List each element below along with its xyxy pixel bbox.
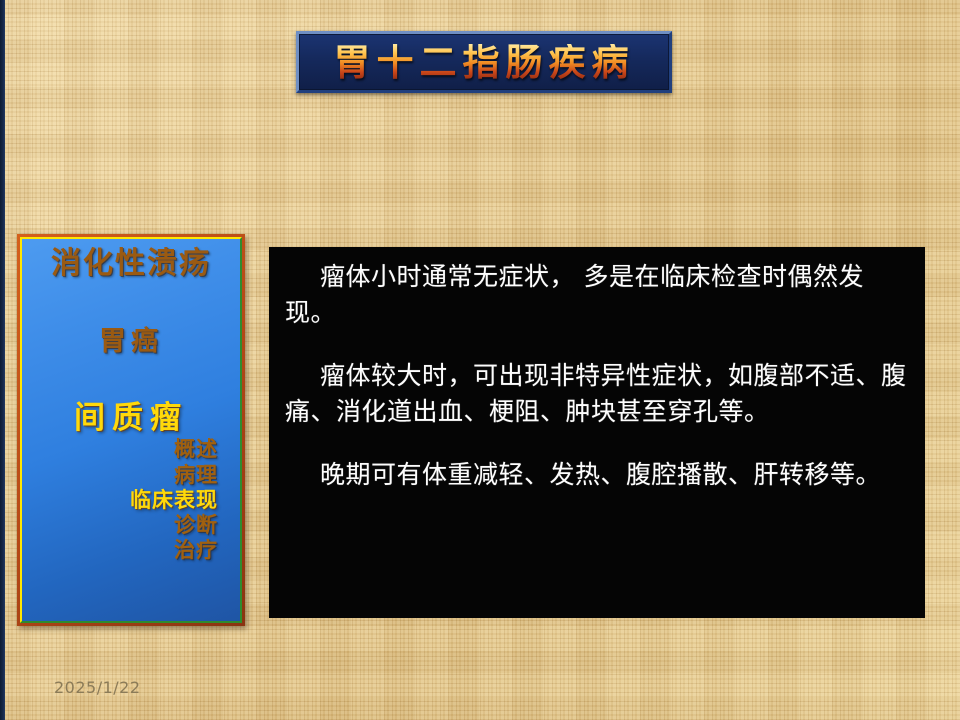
nav-subitem-list: 概述 病理 临床表现 诊断 治疗	[30, 436, 232, 562]
nav-subitem-pathology[interactable]: 病理	[174, 462, 218, 487]
slide-title-banner: 胃十二指肠疾病	[296, 31, 672, 93]
nav-section-stromal-tumor[interactable]: 间质瘤	[30, 402, 232, 435]
content-paragraph-3: 晚期可有体重减轻、发热、腹腔播散、肝转移等。	[285, 457, 909, 493]
nav-section-gastric-cancer[interactable]: 胃癌	[30, 328, 232, 356]
outline-nav-panel-inner: 消化性溃疡 胃癌 间质瘤 概述 病理 临床表现 诊断 治疗	[20, 237, 242, 623]
outline-nav-panel[interactable]: 消化性溃疡 胃癌 间质瘤 概述 病理 临床表现 诊断 治疗	[17, 234, 245, 626]
slide-title: 胃十二指肠疾病	[334, 44, 635, 81]
presentation-slide: 胃十二指肠疾病 消化性溃疡 胃癌 间质瘤 概述 病理 临床表现 诊断 治疗 瘤体…	[0, 0, 960, 720]
slide-left-edge-strip	[0, 0, 5, 720]
nav-subitem-treatment[interactable]: 治疗	[174, 537, 218, 562]
nav-section-peptic-ulcer[interactable]: 消化性溃疡	[30, 248, 232, 280]
content-paragraph-2: 瘤体较大时，可出现非特异性症状，如腹部不适、腹痛、消化道出血、梗阻、肿块甚至穿孔…	[285, 358, 909, 429]
nav-subitem-overview[interactable]: 概述	[174, 436, 218, 461]
content-paragraph-1: 瘤体小时通常无症状， 多是在临床检查时偶然发现。	[285, 259, 909, 330]
nav-subitem-clinical-manifestations[interactable]: 临床表现	[130, 487, 218, 512]
nav-subitem-diagnosis[interactable]: 诊断	[174, 512, 218, 537]
content-panel: 瘤体小时通常无症状， 多是在临床检查时偶然发现。 瘤体较大时，可出现非特异性症状…	[269, 247, 925, 618]
slide-footer-date: 2025/1/22	[54, 678, 141, 697]
